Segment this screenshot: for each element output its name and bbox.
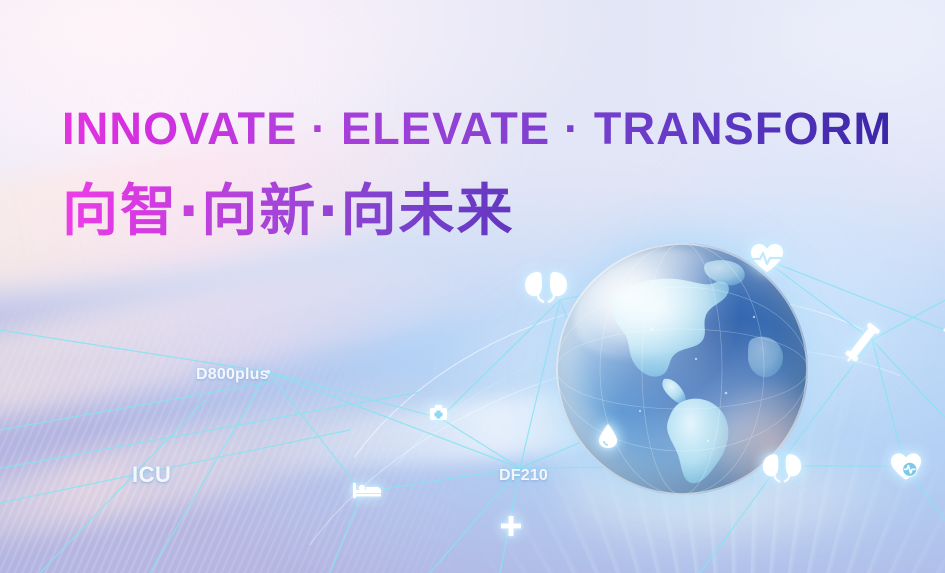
headline: INNOVATE · ELEVATE · TRANSFORM: [62, 103, 892, 155]
medical-kit-icon: [429, 403, 448, 421]
hero-banner: INNOVATE · ELEVATE · TRANSFORM 向智·向新·向未来…: [0, 0, 945, 573]
kidneys-icon-2: [761, 452, 803, 484]
tag-d800plus: D800plus: [196, 366, 269, 384]
heart-monitor-icon: [890, 452, 922, 481]
water-drop-icon: [598, 423, 618, 449]
subline: 向智·向新·向未来: [62, 166, 515, 247]
tag-icu: ICU: [132, 462, 171, 488]
hospital-bed-icon: [353, 481, 381, 499]
kidneys-icon: [523, 270, 569, 304]
tag-df210: DF210: [499, 467, 548, 485]
medical-cross-icon: [501, 516, 521, 536]
heart-pulse-icon: [750, 243, 784, 273]
